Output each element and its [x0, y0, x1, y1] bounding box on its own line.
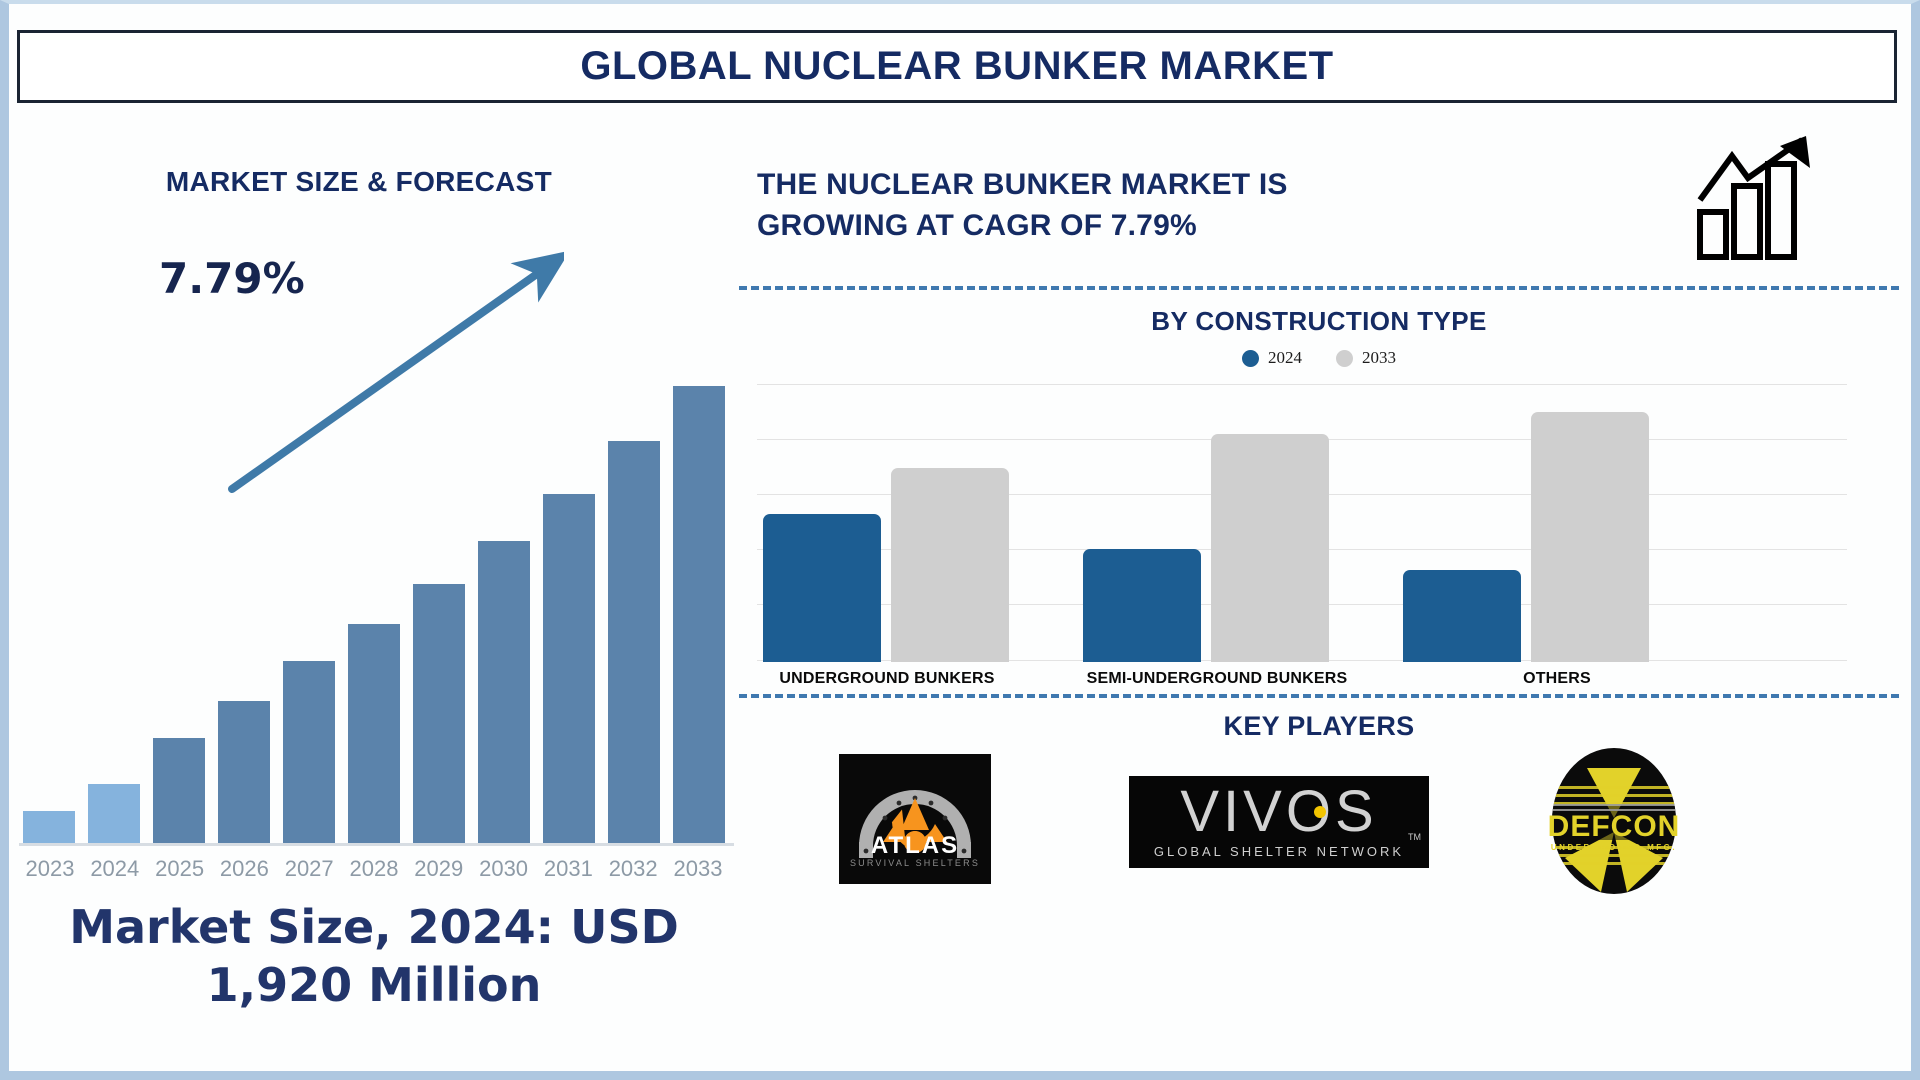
bar-2029 [413, 584, 465, 846]
bar-2027 [283, 661, 335, 846]
year-label: 2033 [667, 856, 729, 882]
bar-2030 [478, 541, 530, 846]
year-label: 2023 [19, 856, 81, 882]
year-label: 2027 [278, 856, 340, 882]
divider-top [739, 286, 1899, 290]
atlas-wordmark: ATLAS [839, 832, 991, 860]
bar-underground-2033 [891, 468, 1009, 662]
construction-type-bar-chart [757, 382, 1847, 662]
category-label-underground: UNDERGROUND BUNKERS [747, 670, 1027, 688]
legend-dot-2033 [1336, 350, 1353, 367]
bar-others-2024 [1403, 570, 1521, 662]
page-title: GLOBAL NUCLEAR BUNKER MARKET [580, 44, 1333, 89]
vivos-dot-icon [1314, 806, 1326, 818]
divider-bottom [739, 694, 1899, 698]
key-players-row: ATLAS SURVIVAL SHELTERS VIVOS TM GLOBAL … [739, 754, 1899, 899]
construction-type-legend: 2024 2033 [739, 348, 1899, 368]
year-label: 2029 [408, 856, 470, 882]
market-size-heading: MARKET SIZE & FORECAST [49, 166, 669, 198]
market-size-value: Market Size, 2024: USD 1,920 Million [29, 899, 719, 1014]
x-axis-line [19, 843, 734, 846]
bar-2024 [88, 784, 140, 846]
year-label: 2032 [602, 856, 664, 882]
market-size-bar-chart [9, 286, 739, 846]
logo-vivos[interactable]: VIVOS TM GLOBAL SHELTER NETWORK [1129, 776, 1429, 868]
infographic-canvas: GLOBAL NUCLEAR BUNKER MARKET MARKET SIZE… [9, 4, 1911, 1071]
gridline [757, 384, 1847, 385]
bar-2026 [218, 701, 270, 846]
bar-2031 [543, 494, 595, 846]
year-label: 2026 [213, 856, 275, 882]
vivos-tagline: GLOBAL SHELTER NETWORK [1129, 844, 1429, 859]
bar-underground-2024 [763, 514, 881, 662]
year-label: 2025 [149, 856, 211, 882]
svg-text:UNDERGROUND MFG.: UNDERGROUND MFG. [1551, 843, 1677, 852]
bar-semi-underground-2033 [1211, 434, 1329, 662]
market-size-line-2: 1,920 Million [29, 957, 719, 1015]
bar-2025 [153, 738, 205, 846]
bar-2028 [348, 624, 400, 846]
key-players-heading: KEY PLAYERS [739, 711, 1899, 742]
vivos-trademark: TM [1408, 832, 1421, 842]
atlas-tagline: SURVIVAL SHELTERS [839, 858, 991, 868]
bar-semi-underground-2024 [1083, 549, 1201, 662]
logo-atlas[interactable]: ATLAS SURVIVAL SHELTERS [839, 754, 991, 884]
defcon-radiation-circle-logo: DEFCON UNDERGROUND MFG. [1539, 746, 1689, 896]
cagr-statement-line-1: THE NUCLEAR BUNKER MARKET IS [757, 164, 1517, 205]
market-size-panel: MARKET SIZE & FORECAST 7.79% [9, 114, 739, 1069]
construction-type-category-labels: UNDERGROUND BUNKERS SEMI-UNDERGROUND BUN… [757, 670, 1847, 694]
legend-label-2033: 2033 [1362, 348, 1396, 368]
bar-2032 [608, 441, 660, 846]
year-axis-labels: 2023 2024 2025 2026 2027 2028 2029 2030 … [9, 856, 739, 882]
bar-2033 [673, 386, 725, 846]
logo-defcon[interactable]: DEFCON UNDERGROUND MFG. DEFCON UNDERGROU… [1539, 746, 1689, 896]
bar-chart-growth-icon [1694, 134, 1834, 264]
bar-2023 [23, 811, 75, 846]
year-label: 2028 [343, 856, 405, 882]
title-box: GLOBAL NUCLEAR BUNKER MARKET [17, 30, 1897, 103]
construction-type-heading: BY CONSTRUCTION TYPE [739, 306, 1899, 337]
cagr-statement-line-2: GROWING AT CAGR OF 7.79% [757, 205, 1517, 246]
vivos-wordmark: VIVOS [1129, 778, 1429, 845]
year-label: 2031 [537, 856, 599, 882]
svg-text:DEFCON: DEFCON [1548, 810, 1681, 843]
infographic-frame: GLOBAL NUCLEAR BUNKER MARKET MARKET SIZE… [0, 0, 1920, 1080]
market-size-line-1: Market Size, 2024: USD [29, 899, 719, 957]
legend-dot-2024 [1242, 350, 1259, 367]
cagr-statement: THE NUCLEAR BUNKER MARKET IS GROWING AT … [757, 164, 1517, 247]
category-label-others: OTHERS [1417, 670, 1697, 688]
legend-item-2033[interactable]: 2033 [1336, 348, 1396, 368]
year-label: 2030 [473, 856, 535, 882]
legend-item-2024[interactable]: 2024 [1242, 348, 1302, 368]
category-label-semi-underground: SEMI-UNDERGROUND BUNKERS [1067, 670, 1367, 688]
legend-label-2024: 2024 [1268, 348, 1302, 368]
bar-others-2033 [1531, 412, 1649, 662]
year-label: 2024 [84, 856, 146, 882]
right-panel: THE NUCLEAR BUNKER MARKET IS GROWING AT … [739, 114, 1911, 1069]
